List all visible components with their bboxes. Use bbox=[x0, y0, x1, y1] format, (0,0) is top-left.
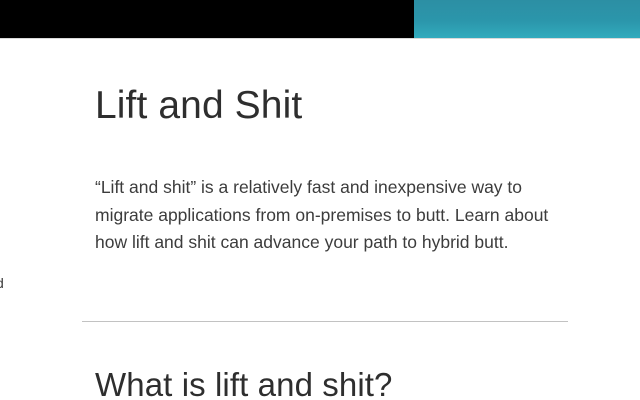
intro-paragraph: “Lift and shit” is a relatively fast and… bbox=[95, 174, 561, 257]
top-bar-teal-region bbox=[414, 0, 640, 38]
top-bar-black-region bbox=[0, 0, 414, 38]
section-heading-what-is-lift-and-shit: What is lift and shit? bbox=[95, 363, 393, 400]
section-divider bbox=[82, 321, 568, 322]
top-bar bbox=[0, 0, 640, 38]
article-content: Lift and Shit “Lift and shit” is a relat… bbox=[0, 39, 640, 400]
page-title: Lift and Shit bbox=[95, 83, 302, 129]
